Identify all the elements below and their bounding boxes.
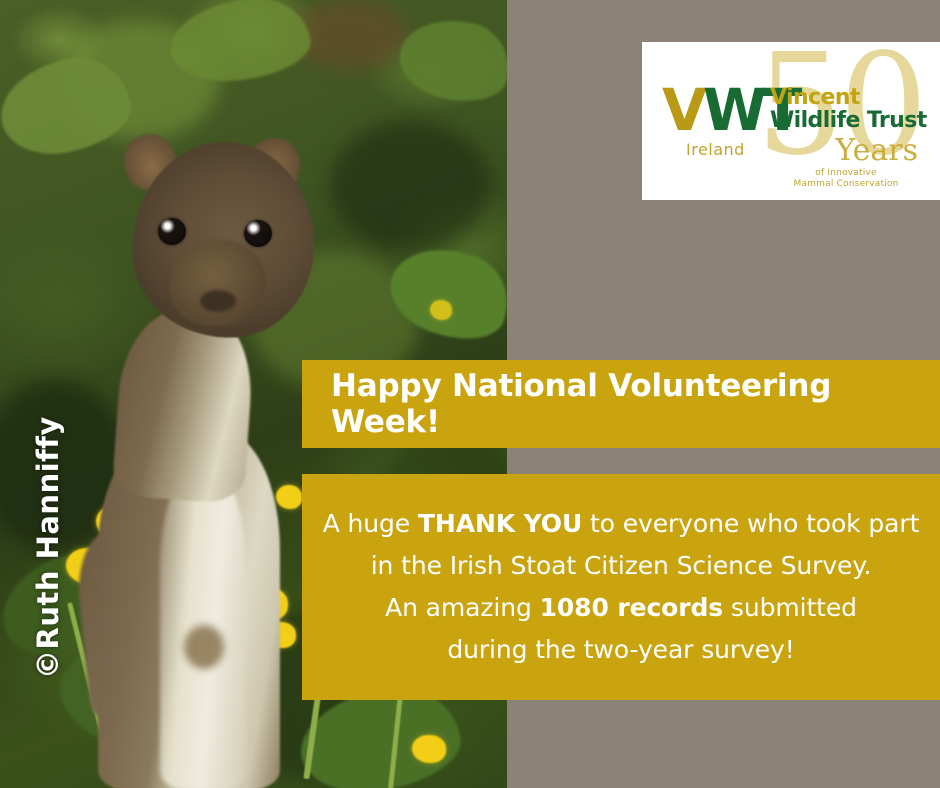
- vwt-name-line1: Vincent: [770, 86, 940, 109]
- message-line-1-post: to everyone who took part: [582, 509, 919, 538]
- poster: ©Ruth Hanniffy 50 VWT Ireland Vincent Wi…: [0, 0, 940, 788]
- message-line-1-pre: A huge: [323, 509, 418, 538]
- stoat-eye-right: [244, 220, 272, 247]
- yellow-flower: [412, 735, 446, 763]
- stoat-eye-left: [158, 218, 186, 245]
- stoat-chest-marking: [184, 625, 224, 669]
- anniversary-tagline-line2: Mammal Conservation: [766, 179, 926, 190]
- vwt-name-line2: Wildlife Trust: [770, 109, 940, 132]
- headline-text: Happy National Volunteering Week!: [331, 368, 940, 440]
- anniversary-tagline: of Innovative Mammal Conservation: [766, 168, 926, 190]
- anniversary-tagline-line1: of Innovative: [766, 168, 926, 179]
- yellow-flower: [430, 300, 452, 320]
- stoat-chest: [160, 460, 246, 788]
- message-line-2: in the Irish Stoat Citizen Science Surve…: [371, 545, 872, 587]
- message-line-1-bold: THANK YOU: [418, 509, 582, 538]
- message-line-4: during the two-year survey!: [447, 629, 794, 671]
- stoat-nose: [200, 290, 236, 312]
- headline-banner: Happy National Volunteering Week!: [302, 360, 940, 448]
- message-line-3-bold: 1080 records: [540, 593, 723, 622]
- vwt-logo-card: 50 VWT Ireland Vincent Wildlife Trust Ye…: [642, 42, 940, 200]
- photo-credit: ©Ruth Hanniffy: [31, 479, 65, 679]
- message-line-3: An amazing 1080 records submitted: [385, 587, 857, 629]
- message-line-3-post: submitted: [723, 593, 857, 622]
- message-banner: A huge THANK YOU to everyone who took pa…: [302, 474, 940, 700]
- vwt-monogram-v: V: [662, 76, 703, 144]
- message-line-1: A huge THANK YOU to everyone who took pa…: [323, 503, 920, 545]
- vwt-region-label: Ireland: [686, 140, 745, 159]
- anniversary-years-word: Years: [835, 136, 918, 166]
- vwt-name: Vincent Wildlife Trust: [770, 86, 940, 132]
- message-line-3-pre: An amazing: [385, 593, 540, 622]
